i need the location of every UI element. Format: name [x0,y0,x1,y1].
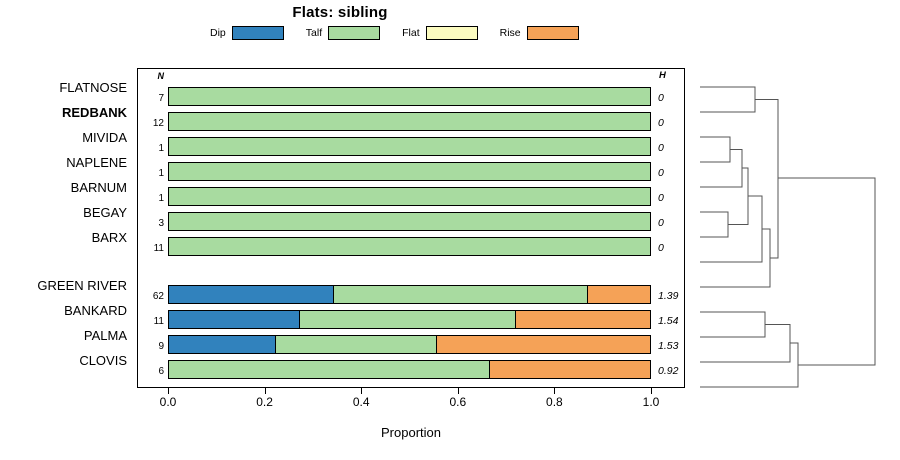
chart-root: Flats: sibling Dip Talf Flat Rise FLATNO… [0,0,900,460]
n-column: N 712111311621196 [138,68,167,388]
y-axis-label: CLOVIS [79,354,127,368]
n-value: 11 [154,316,164,327]
bar-segment-talf[interactable] [169,138,650,155]
h-value: 0 [658,118,664,129]
n-value: 1 [158,168,164,179]
bar-row [168,335,651,354]
x-axis-tick [265,388,266,394]
bar-segment-dip[interactable] [169,286,333,303]
bar-segment-dip[interactable] [169,311,299,328]
page-title: Flats: sibling [0,4,680,21]
n-value: 6 [158,366,164,377]
h-value: 1.53 [658,341,678,352]
bar-row [168,212,651,231]
x-axis-tick [651,388,652,394]
y-axis-label: BARX [92,231,127,245]
stacked-bar[interactable] [168,187,651,206]
h-value: 1.39 [658,291,678,302]
bar-row [168,187,651,206]
legend-entry-rise[interactable]: Rise [500,26,579,40]
legend-swatch-rise [527,26,579,40]
bar-row [168,360,651,379]
stacked-bar[interactable] [168,310,651,329]
x-axis: 0.00.20.40.60.81.0 [137,388,685,418]
y-axis-label: REDBANK [62,106,127,120]
bar-row [168,162,651,181]
stacked-bar[interactable] [168,237,651,256]
h-value: 1.54 [658,316,678,327]
legend-label-flat: Flat [402,27,420,39]
y-axis-label: MIVIDA [82,131,127,145]
y-axis-label: NAPLENE [66,156,127,170]
n-value: 12 [153,118,164,129]
n-value: 3 [158,218,164,229]
stacked-bar[interactable] [168,212,651,231]
stacked-bar[interactable] [168,112,651,131]
n-value: 62 [153,291,164,302]
bar-segment-talf[interactable] [169,88,650,105]
x-axis-tick-label: 0.4 [353,395,370,409]
bar-row [168,237,651,256]
bar-segment-talf[interactable] [299,311,515,328]
y-axis-label: PALMA [84,329,127,343]
dendrogram-svg [690,60,900,400]
legend-swatch-talf [328,26,380,40]
bar-segment-dip[interactable] [169,336,275,353]
y-axis-label: FLATNOSE [59,81,127,95]
bar-segment-talf[interactable] [169,113,650,130]
y-axis-label: BEGAY [83,206,127,220]
h-value: 0 [658,93,664,104]
legend: Dip Talf Flat Rise [210,24,610,42]
h-value: 0 [658,243,664,254]
x-axis-tick-label: 0.0 [160,395,177,409]
bar-segment-talf[interactable] [275,336,436,353]
dendrogram [690,60,900,400]
legend-swatch-flat [426,26,478,40]
n-value: 11 [154,243,164,254]
legend-entry-dip[interactable]: Dip [210,26,284,40]
h-value: 0.92 [658,366,678,377]
x-axis-tick [554,388,555,394]
legend-entry-talf[interactable]: Talf [306,26,380,40]
x-axis-tick-label: 0.6 [449,395,466,409]
bar-segment-talf[interactable] [169,188,650,205]
legend-swatch-dip [232,26,284,40]
h-value: 0 [658,143,664,154]
bar-segment-rise[interactable] [515,311,650,328]
x-axis-tick [458,388,459,394]
h-value: 0 [658,193,664,204]
stacked-bar[interactable] [168,285,651,304]
n-column-header: N [158,71,165,81]
bar-row [168,137,651,156]
h-column: H 00000001.391.541.530.92 [653,68,686,388]
legend-entry-flat[interactable]: Flat [402,26,478,40]
bar-area [168,68,651,388]
stacked-bar[interactable] [168,87,651,106]
bar-segment-talf[interactable] [333,286,588,303]
x-axis-tick-label: 0.8 [546,395,563,409]
bar-row [168,112,651,131]
x-axis-tick-label: 1.0 [643,395,660,409]
y-axis-label: BANKARD [64,304,127,318]
bar-segment-rise[interactable] [436,336,650,353]
bar-segment-talf[interactable] [169,163,650,180]
bar-segment-talf[interactable] [169,238,650,255]
h-value: 0 [658,168,664,179]
bar-segment-rise[interactable] [587,286,650,303]
stacked-bar[interactable] [168,162,651,181]
legend-label-rise: Rise [500,27,521,39]
bar-segment-talf[interactable] [169,361,489,378]
n-value: 9 [158,341,164,352]
x-axis-tick [361,388,362,394]
n-value: 7 [158,93,164,104]
n-value: 1 [158,143,164,154]
legend-label-dip: Dip [210,27,226,39]
h-value: 0 [658,218,664,229]
bar-segment-talf[interactable] [169,213,650,230]
n-value: 1 [158,193,164,204]
h-column-header: H [659,70,666,81]
bar-row [168,310,651,329]
y-axis-labels: FLATNOSEREDBANKMIVIDANAPLENEBARNUMBEGAYB… [0,68,131,388]
stacked-bar[interactable] [168,335,651,354]
bar-row [168,285,651,304]
stacked-bar[interactable] [168,137,651,156]
legend-label-talf: Talf [306,27,322,39]
bar-row [168,87,651,106]
x-axis-tick-label: 0.2 [256,395,273,409]
stacked-bar[interactable] [168,360,651,379]
x-axis-tick [168,388,169,394]
y-axis-label: GREEN RIVER [37,279,127,293]
y-axis-label: BARNUM [71,181,127,195]
x-axis-title: Proportion [137,425,685,440]
bar-segment-rise[interactable] [489,361,650,378]
